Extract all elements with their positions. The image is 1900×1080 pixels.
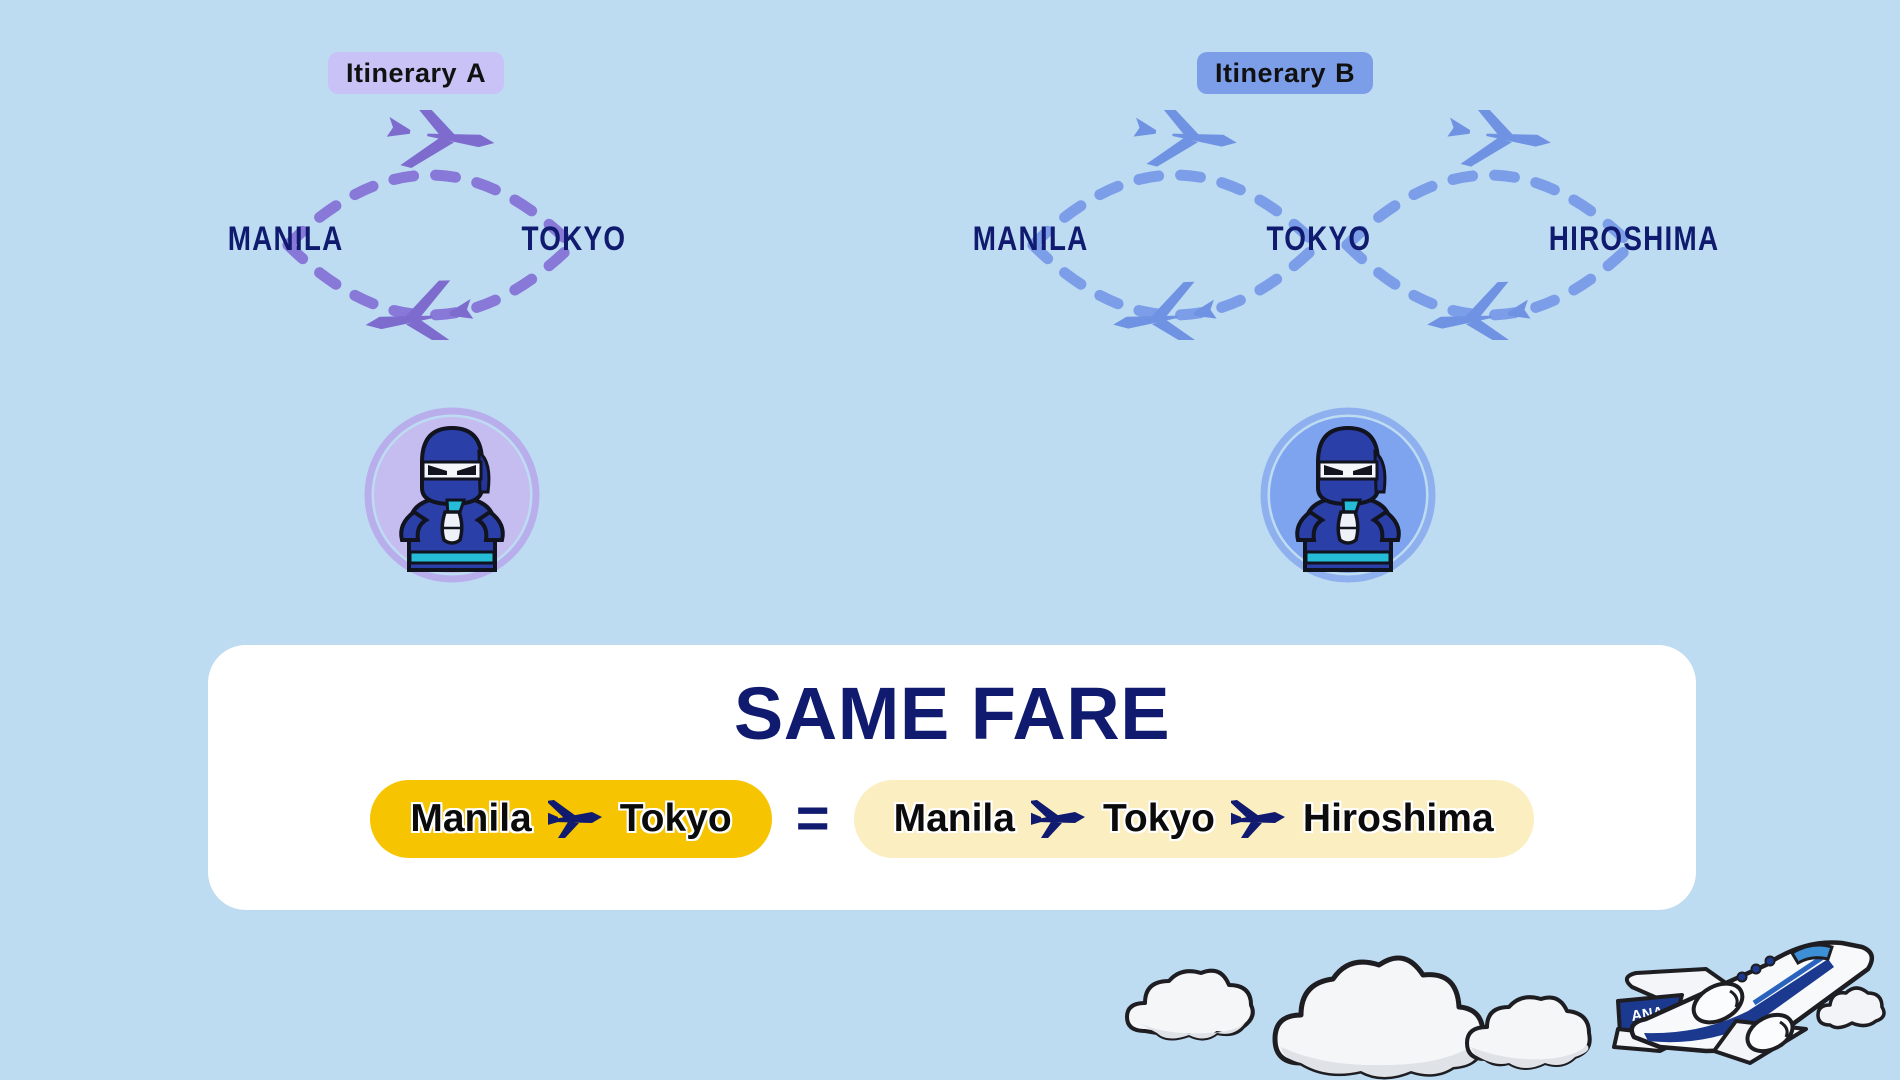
route-b-city-manila: MANILA (973, 220, 1089, 259)
itinerary-a-avatar (352, 400, 562, 590)
plane-right-icon (1444, 110, 1556, 177)
infographic-canvas: Itinerary A Itinerary B (0, 0, 1900, 1080)
plane-right-icon (1130, 110, 1242, 177)
itinerary-b-route-diagram: MANILA TOKYO HIROSHIMA (985, 110, 1745, 340)
itinerary-a-badge-letter: A (466, 58, 486, 89)
route-b-city-tokyo: TOKYO (1267, 220, 1372, 259)
fare-route-b-via: Tokyo (1103, 797, 1215, 841)
itinerary-b-badge: Itinerary B (1197, 52, 1373, 94)
route-a-city-manila: MANILA (228, 220, 344, 259)
fare-route-a-destination: Tokyo (620, 797, 732, 841)
cloud-cluster-icon (1105, 935, 1605, 1080)
fare-route-b-destination: Hiroshima (1303, 797, 1494, 841)
itinerary-a-badge-label: Itinerary (346, 58, 457, 89)
plane-left-icon (361, 277, 477, 340)
ninja-avatar (352, 400, 562, 590)
itinerary-b-badge-label: Itinerary (1215, 58, 1326, 89)
ana-airplane-icon: ANA (1590, 925, 1900, 1080)
itinerary-b-avatar (1248, 400, 1458, 590)
plane-right-icon (383, 110, 499, 179)
route-a-city-tokyo: TOKYO (522, 220, 627, 259)
plane-left-icon (1109, 278, 1221, 340)
plane-icon (1031, 799, 1087, 839)
plane-icon (1231, 799, 1287, 839)
same-fare-headline: SAME FARE (208, 671, 1696, 756)
equals-sign: = (790, 796, 836, 842)
itinerary-b-badge-letter: B (1335, 58, 1355, 89)
fare-route-b-pill: Manila Tokyo (854, 780, 1534, 858)
plane-icon (548, 799, 604, 839)
itinerary-a-badge: Itinerary A (328, 52, 504, 94)
itinerary-a-route-diagram: MANILA TOKYO (240, 110, 620, 340)
same-fare-card: SAME FARE Manila Tokyo = Manila (208, 645, 1696, 910)
fare-route-b-origin: Manila (894, 797, 1015, 841)
fare-route-a-origin: Manila (410, 797, 531, 841)
cloud-small-left (1127, 971, 1253, 1039)
fare-comparison-row: Manila Tokyo = Manila (208, 780, 1696, 858)
route-b-city-hiroshima: HIROSHIMA (1549, 220, 1720, 259)
fare-route-a-pill: Manila Tokyo (370, 780, 771, 858)
ninja-avatar (1248, 400, 1458, 590)
plane-left-icon (1423, 278, 1535, 340)
